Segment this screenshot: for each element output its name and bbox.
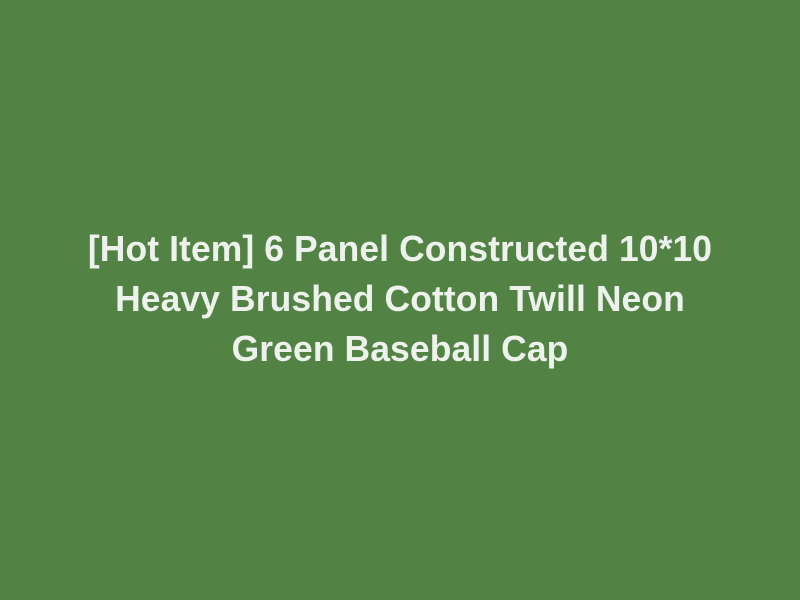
title-line-3: Green Baseball Cap: [45, 324, 754, 374]
title-line-1: [Hot Item] 6 Panel Constructed 10*10: [45, 224, 754, 274]
title-line-2: Heavy Brushed Cotton Twill Neon: [45, 274, 754, 324]
product-title-card: [Hot Item] 6 Panel Constructed 10*10 Hea…: [0, 0, 800, 600]
page-title: [Hot Item] 6 Panel Constructed 10*10 Hea…: [40, 224, 760, 376]
